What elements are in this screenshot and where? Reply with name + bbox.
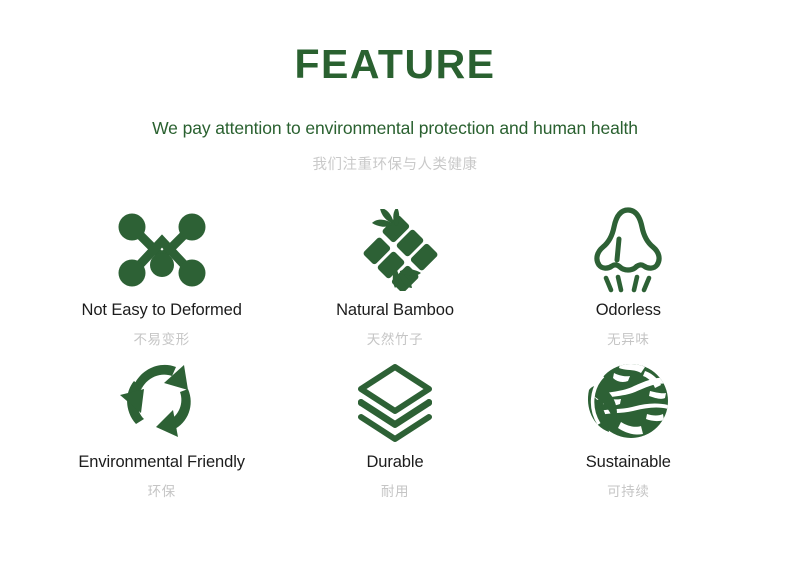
feature-item-sustainable: Sustainable 可持续 xyxy=(512,346,745,498)
layers-stack-icon xyxy=(353,346,437,456)
globe-leaf-icon xyxy=(583,346,673,456)
feature-label-english: Environmental Friendly xyxy=(78,454,245,471)
feature-label-chinese: 环保 xyxy=(148,485,176,499)
page-subtitle-chinese: 我们注重环保与人类健康 xyxy=(0,139,790,174)
lattice-nodes-icon xyxy=(116,196,208,304)
feature-label-english: Sustainable xyxy=(586,454,671,471)
feature-item-environmental-friendly: Environmental Friendly 环保 xyxy=(45,346,278,498)
feature-label-chinese: 不易变形 xyxy=(133,333,189,347)
feature-label-english: Not Easy to Deformed xyxy=(82,302,242,319)
bamboo-icon xyxy=(352,196,438,304)
feature-label-english: Odorless xyxy=(596,302,661,319)
recycle-icon xyxy=(116,346,208,456)
feature-label-english: Natural Bamboo xyxy=(336,302,454,319)
feature-page: FEATURE We pay attention to environmenta… xyxy=(0,0,790,576)
feature-label-chinese: 天然竹子 xyxy=(367,333,423,347)
feature-item-odorless: Odorless 无异味 xyxy=(512,196,745,346)
nose-odorless-icon xyxy=(590,196,666,304)
page-title: FEATURE xyxy=(0,0,790,85)
page-header: FEATURE We pay attention to environmenta… xyxy=(0,0,790,174)
feature-item-not-easy-to-deformed: Not Easy to Deformed 不易变形 xyxy=(45,196,278,346)
feature-grid: Not Easy to Deformed 不易变形 xyxy=(45,174,745,498)
feature-label-chinese: 无异味 xyxy=(607,333,649,347)
page-subtitle-english: We pay attention to environmental protec… xyxy=(0,85,790,139)
feature-label-english: Durable xyxy=(366,454,423,471)
feature-item-durable: Durable 耐用 xyxy=(278,346,511,498)
feature-label-chinese: 可持续 xyxy=(607,485,649,499)
feature-label-chinese: 耐用 xyxy=(381,485,409,499)
feature-item-natural-bamboo: Natural Bamboo 天然竹子 xyxy=(278,196,511,346)
